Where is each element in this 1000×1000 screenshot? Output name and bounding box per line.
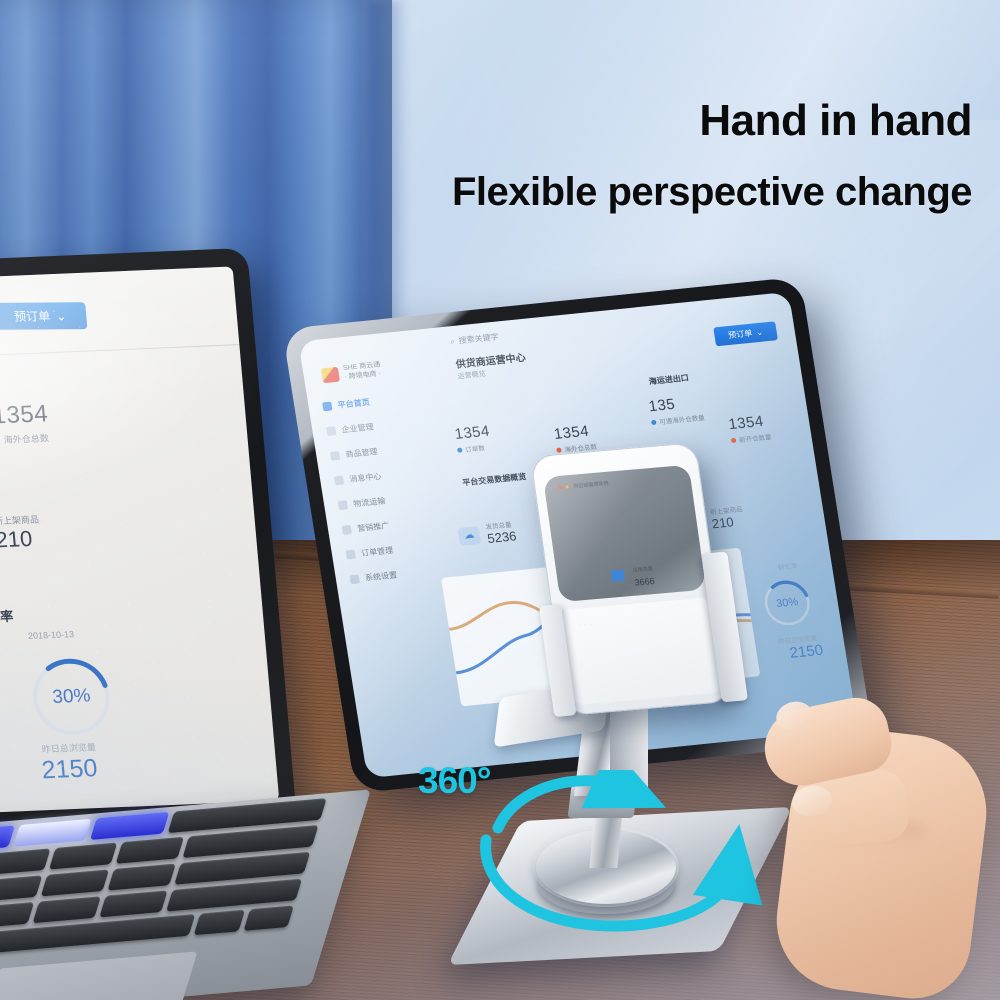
status-dot — [558, 486, 562, 490]
status-dot — [556, 447, 562, 452]
tablet-section-title-2: 海运进出口 — [648, 372, 690, 387]
headline-line-1: Hand in hand — [332, 98, 972, 145]
tablet-stat-2: 135 可通海外仓数量 — [647, 393, 705, 427]
chevron-down-icon: ⌄ — [56, 309, 67, 323]
phone-screen: 供应链管理系统 出库总量 3666 — [543, 465, 706, 603]
headline-line-2: Flexible perspective change — [332, 171, 972, 213]
laptop-line-chart — [0, 647, 41, 723]
hand-holding-tablet — [762, 690, 1000, 1000]
sidebar-item-enterprise[interactable]: 企业管理 — [326, 416, 423, 437]
sidebar-item-logistics[interactable]: 物流运输 — [338, 490, 435, 511]
laptop-stat-1-value: 1354 — [0, 400, 49, 430]
product-marketing-image: Hand in hand Flexible perspective change… — [0, 0, 1000, 1000]
tablet-shipment-card: ☁ 发货总量 5236 — [457, 518, 518, 548]
status-dot — [731, 437, 737, 442]
key-backlit[interactable] — [0, 825, 15, 853]
tablet-stat-1: 1354 海外仓总数 — [553, 422, 598, 455]
key[interactable] — [41, 869, 109, 896]
tablet-search-placeholder: 搜索关键字 — [458, 331, 500, 346]
curved-arrow-right-icon — [486, 840, 732, 926]
sidebar-item-marketing[interactable]: 营销推广 — [342, 515, 439, 536]
laptop-device: 预订单 ⌄ 35 可通海外仓数量 1354 海外仓总数 — [0, 255, 320, 995]
tablet-stat-3: 1354 新开仓数量 — [727, 412, 772, 445]
phone-card-value: 3666 — [634, 576, 655, 588]
home-icon — [322, 402, 332, 412]
list-icon — [346, 550, 356, 560]
laptop-divider — [0, 344, 239, 360]
search-icon: ⌕ — [449, 336, 455, 346]
tablet-footer-value: 2150 — [788, 642, 824, 662]
tablet-conversion-label: 转化率 — [777, 560, 798, 572]
laptop-footer-label: 昨日总浏览量 — [41, 740, 96, 755]
phone-status-bar: 供应链管理系统 — [558, 480, 609, 491]
phone-lower-panel: · · · — [562, 597, 721, 705]
tablet-search-bar[interactable]: ⌕ 搜索关键字 — [449, 331, 499, 347]
tablet-section-title-1: 平台交易数据概览 — [462, 471, 527, 488]
rotation-arrows — [470, 770, 800, 950]
gear-icon — [349, 574, 359, 584]
tablet-page-subtitle: 运营概览 — [457, 369, 486, 382]
chevron-down-icon: ⌄ — [755, 328, 763, 338]
headline-block: Hand in hand Flexible perspective change — [332, 98, 972, 213]
key[interactable] — [0, 902, 35, 929]
sidebar-item-home[interactable]: 平台首页 — [322, 392, 419, 413]
key[interactable] — [116, 837, 184, 864]
tablet-brand-logo: SHE 商云通 · 跨境电商 · — [321, 361, 383, 384]
key[interactable] — [100, 890, 168, 917]
cloud-icon: ☁ — [457, 526, 481, 546]
box-icon — [330, 451, 340, 461]
laptop-lid: 预订单 ⌄ 35 可通海外仓数量 1354 海外仓总数 — [0, 248, 297, 837]
key[interactable] — [108, 864, 176, 891]
curved-arrow-left-icon — [498, 781, 622, 828]
megaphone-icon — [342, 525, 352, 535]
laptop-stat-1: 1354 海外仓总数 — [0, 400, 51, 446]
building-icon — [326, 426, 336, 436]
tablet-page-title: 供货商运营中心 — [454, 349, 526, 371]
bell-icon — [334, 476, 344, 486]
status-dot — [565, 485, 569, 489]
laptop-section-title: 转化率 — [0, 606, 14, 627]
status-dot — [457, 447, 463, 452]
laptop-order-button-label: 预订单 — [13, 307, 51, 324]
tablet-stat-0: 1354 订单数 — [453, 423, 492, 455]
tablet-order-button[interactable]: 预订单 ⌄ — [713, 321, 778, 346]
key[interactable] — [0, 875, 43, 902]
sidebar-item-products[interactable]: 商品管理 — [330, 441, 427, 462]
laptop-date: 2018-10-13 — [28, 629, 75, 641]
sidebar-item-messages[interactable]: 消息中心 — [334, 466, 431, 487]
key[interactable] — [33, 896, 101, 923]
laptop-order-button[interactable]: 预订单 ⌄ — [0, 302, 87, 330]
tablet-logo-text: SHE 商云通 · 跨境电商 · — [343, 361, 383, 382]
box-icon — [611, 570, 625, 582]
tablet-order-button-label: 预订单 — [727, 328, 753, 341]
laptop-stat-1-label: 海外仓总数 — [0, 431, 51, 446]
sidebar-item-orders[interactable]: 订单管理 — [345, 540, 442, 561]
brand-logo-icon — [321, 367, 340, 384]
laptop-screen: 预订单 ⌄ 35 可通海外仓数量 1354 海外仓总数 — [0, 266, 279, 815]
status-dot — [651, 419, 657, 424]
laptop-new-products-card: ▣ 新上架商品 210 — [0, 513, 42, 556]
phone-chin-text: · · · — [580, 621, 594, 628]
key[interactable] — [49, 843, 117, 870]
key-arrow[interactable] — [243, 905, 294, 931]
phone-status-text: 供应链管理系统 — [573, 480, 609, 490]
key[interactable] — [194, 910, 245, 936]
tablet-donut-percent: 30% — [755, 573, 820, 634]
tablet-conversion-donut: 30% — [755, 573, 820, 634]
key[interactable] — [0, 848, 51, 875]
sidebar-item-settings[interactable]: 系统设置 — [349, 565, 446, 586]
phone-card-label: 出库总量 — [632, 565, 653, 574]
laptop-card-label: 新上架商品 — [0, 513, 39, 528]
laptop-footer-value: 2150 — [41, 754, 99, 785]
laptop-card-value: 210 — [0, 526, 42, 554]
truck-icon — [338, 500, 348, 510]
tablet-sidebar: 平台首页 企业管理 商品管理 消息中心 物流运输 — [322, 392, 449, 599]
